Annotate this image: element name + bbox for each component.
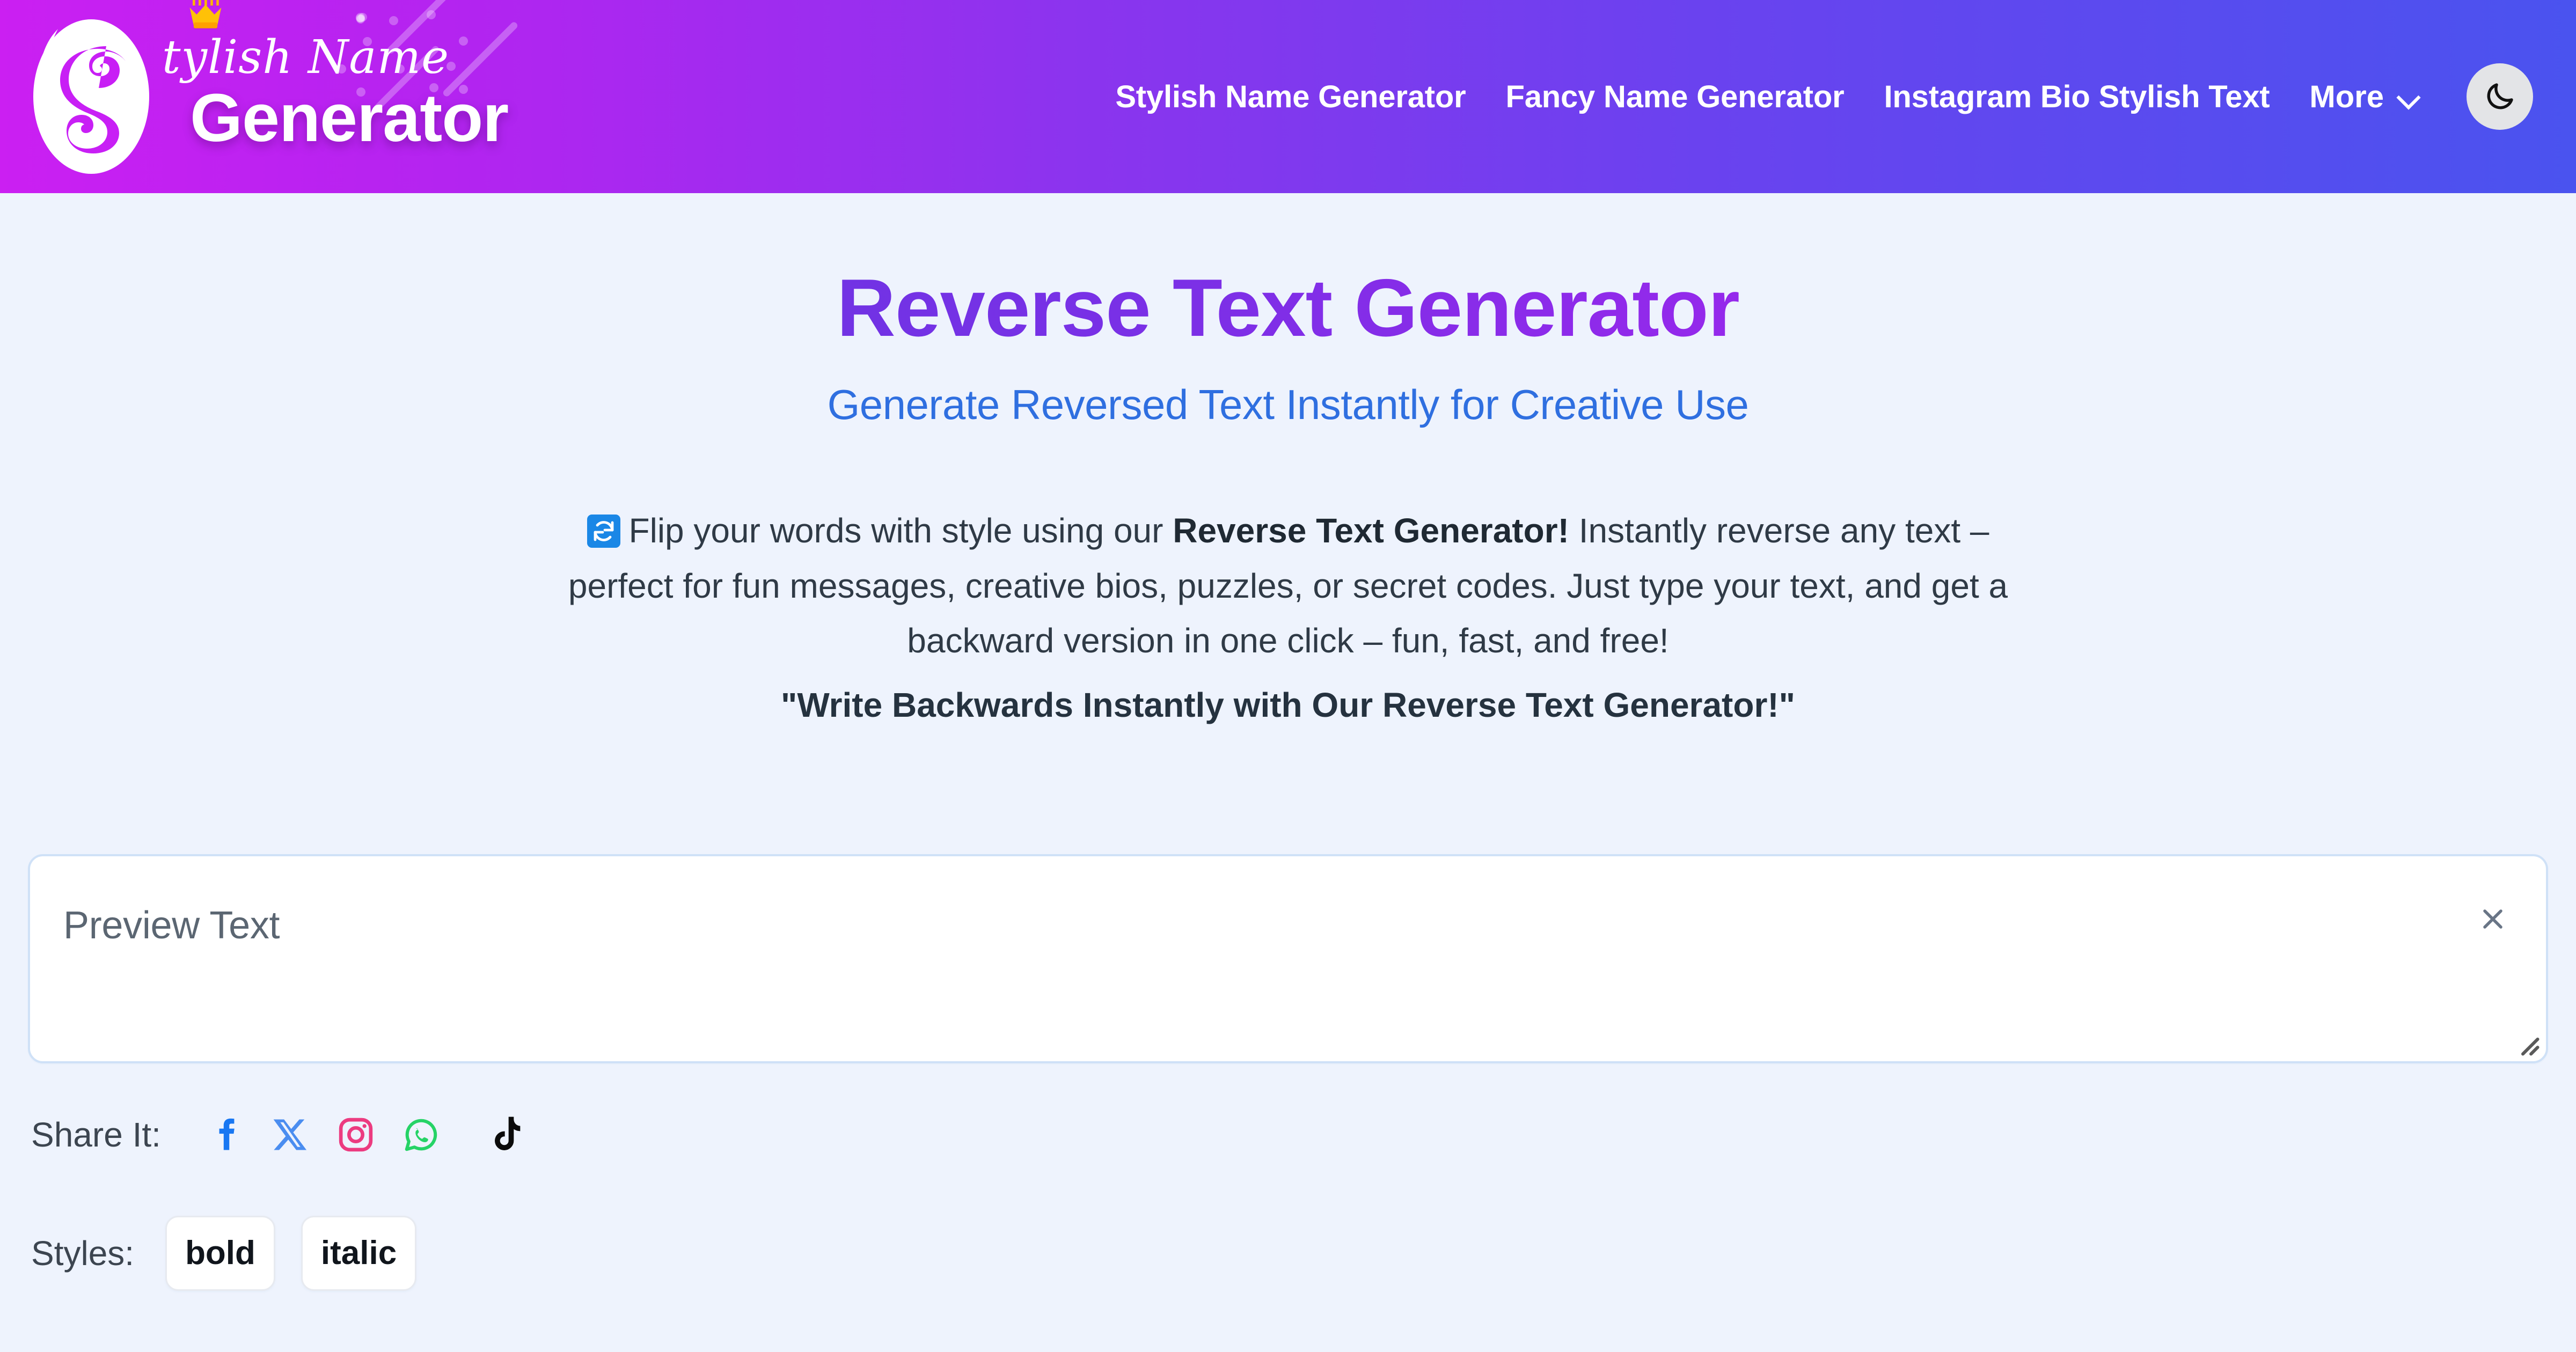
styles-label: Styles: [31,1233,134,1273]
page-subtitle: Generate Reversed Text Instantly for Cre… [0,380,2576,429]
preview-textarea[interactable]: Preview Text [28,854,2548,1063]
share-whatsapp[interactable] [389,1105,454,1164]
intro-tagline: "Write Backwards Instantly with Our Reve… [531,678,2045,732]
nav-fancy-name-generator[interactable]: Fancy Name Generator [1505,79,1844,115]
chevron-down-icon [2398,86,2419,107]
intro-paragraph: Flip your words with style using our Rev… [531,503,2045,733]
page-title: Reverse Text Generator [0,265,2576,351]
clear-text-button[interactable] [2472,898,2514,940]
tiktok-icon [485,1113,528,1156]
intro-bold-brand: Reverse Text Generator! [1173,511,1569,550]
share-row: Share It: [31,1105,2576,1164]
whatsapp-icon [401,1114,442,1155]
nav-stylish-name-generator[interactable]: Stylish Name Generator [1115,79,1466,115]
preview-textarea-placeholder: Preview Text [63,903,280,947]
style-italic[interactable]: italic [301,1216,416,1291]
facebook-icon [204,1114,245,1155]
styles-row: Styles: bold italic [31,1216,2576,1291]
intro-text-part1: Flip your words with style using our [629,511,1173,550]
instagram-icon [335,1114,376,1155]
s-monogram-icon [26,15,160,179]
moon-icon [2483,80,2516,113]
share-facebook[interactable] [192,1105,258,1164]
dark-mode-toggle-button[interactable] [2467,63,2533,130]
logo-main-text: Generator [148,83,508,153]
nav-more-dropdown[interactable]: More [2309,79,2419,115]
resize-grip-icon[interactable] [2517,1033,2541,1057]
nav-more-label: More [2309,79,2384,115]
crown-icon [187,0,236,42]
x-twitter-icon [270,1114,311,1155]
page-main: Reverse Text Generator Generate Reversed… [0,265,2576,1291]
share-tiktok[interactable] [473,1105,539,1164]
style-bold[interactable]: bold [165,1216,275,1291]
share-x[interactable] [258,1105,323,1164]
site-header: tylish Name Generator Stylish Name Gener… [0,0,2576,193]
share-instagram[interactable] [323,1105,389,1164]
share-label: Share It: [31,1115,161,1155]
refresh-emoji-icon [587,515,620,548]
site-logo[interactable]: tylish Name Generator [26,8,508,185]
editor-wrapper: Preview Text [28,854,2548,1063]
close-icon [2477,903,2509,935]
main-navigation: Stylish Name Generator Fancy Name Genera… [1115,63,2576,130]
nav-instagram-bio-stylish-text[interactable]: Instagram Bio Stylish Text [1884,79,2270,115]
